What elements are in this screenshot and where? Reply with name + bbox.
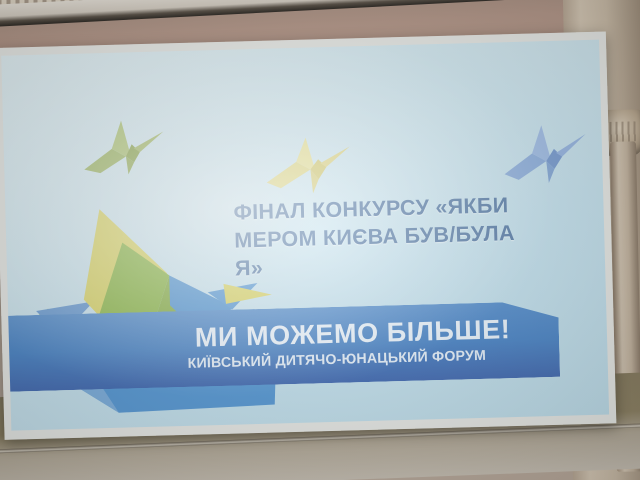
- crane-yellow-icon: [263, 134, 353, 198]
- crane-blue-icon: [501, 122, 589, 186]
- slide-banner: МИ МОЖЕМО БІЛЬШЕ! КИЇВСЬКИЙ ДИТЯЧО-ЮНАЦЬ…: [1, 301, 560, 392]
- presentation-slide: ФІНАЛ КОНКУРСУ «ЯКБИ МЕРОМ КИЄВА БУВ/БУЛ…: [1, 40, 609, 431]
- slide-title: ФІНАЛ КОНКУРСУ «ЯКБИ МЕРОМ КИЄВА БУВ/БУЛ…: [233, 191, 545, 283]
- projection-screen: ФІНАЛ КОНКУРСУ «ЯКБИ МЕРОМ КИЄВА БУВ/БУЛ…: [0, 31, 616, 439]
- crane-green-icon: [81, 117, 167, 177]
- screenshot-root: ФІНАЛ КОНКУРСУ «ЯКБИ МЕРОМ КИЄВА БУВ/БУЛ…: [0, 0, 640, 480]
